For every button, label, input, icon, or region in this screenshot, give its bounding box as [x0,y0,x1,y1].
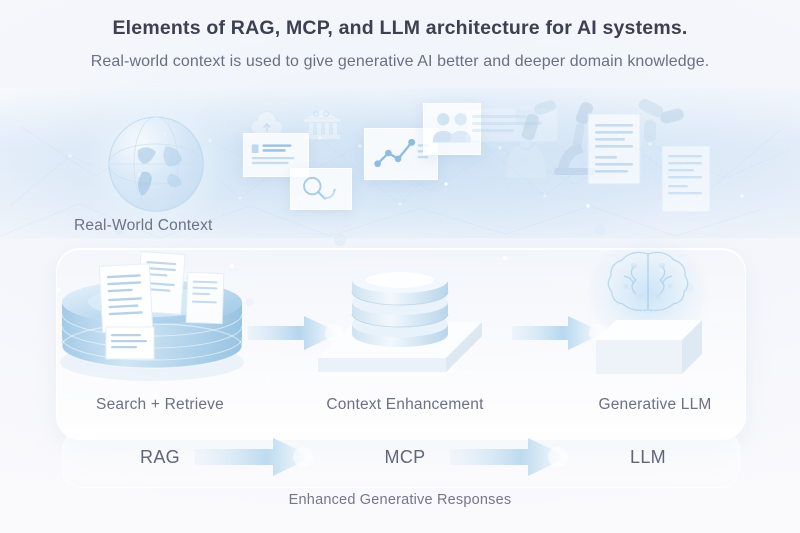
diagram-caption: Enhanced Generative Responses [0,492,800,508]
page-title: Elements of RAG, MCP, and LLM architectu… [0,14,800,43]
stage-label-llm: Generative LLM [555,396,755,414]
arrow-right-icon [450,436,572,478]
stage-label-rag: Search + Retrieve [60,396,260,414]
header: Elements of RAG, MCP, and LLM architectu… [0,14,800,74]
diagram-canvas: Elements of RAG, MCP, and LLM architectu… [0,0,800,533]
document-card-icon [185,271,225,324]
database-stack-icon [348,258,452,350]
cube-base-graphic [596,318,702,378]
document-card-icon [98,263,153,334]
stage-label-mcp: Context Enhancement [305,396,505,414]
document-card-icon [105,326,155,360]
flow-label-mcp: MCP [345,447,465,468]
real-world-context-label: Real-World Context [74,217,213,235]
page-subtitle: Real-world context is used to give gener… [0,50,800,74]
document-page-icon [660,144,712,214]
robot-arm-icon [512,100,560,152]
document-page-icon [586,112,642,186]
flow-label-llm: LLM [588,447,708,468]
brain-on-cube-icon [600,246,696,326]
arrow-right-icon [195,436,317,478]
globe-icon [108,116,204,212]
robot-arm-icon [634,98,690,146]
magnifier-search-icon [290,168,352,210]
